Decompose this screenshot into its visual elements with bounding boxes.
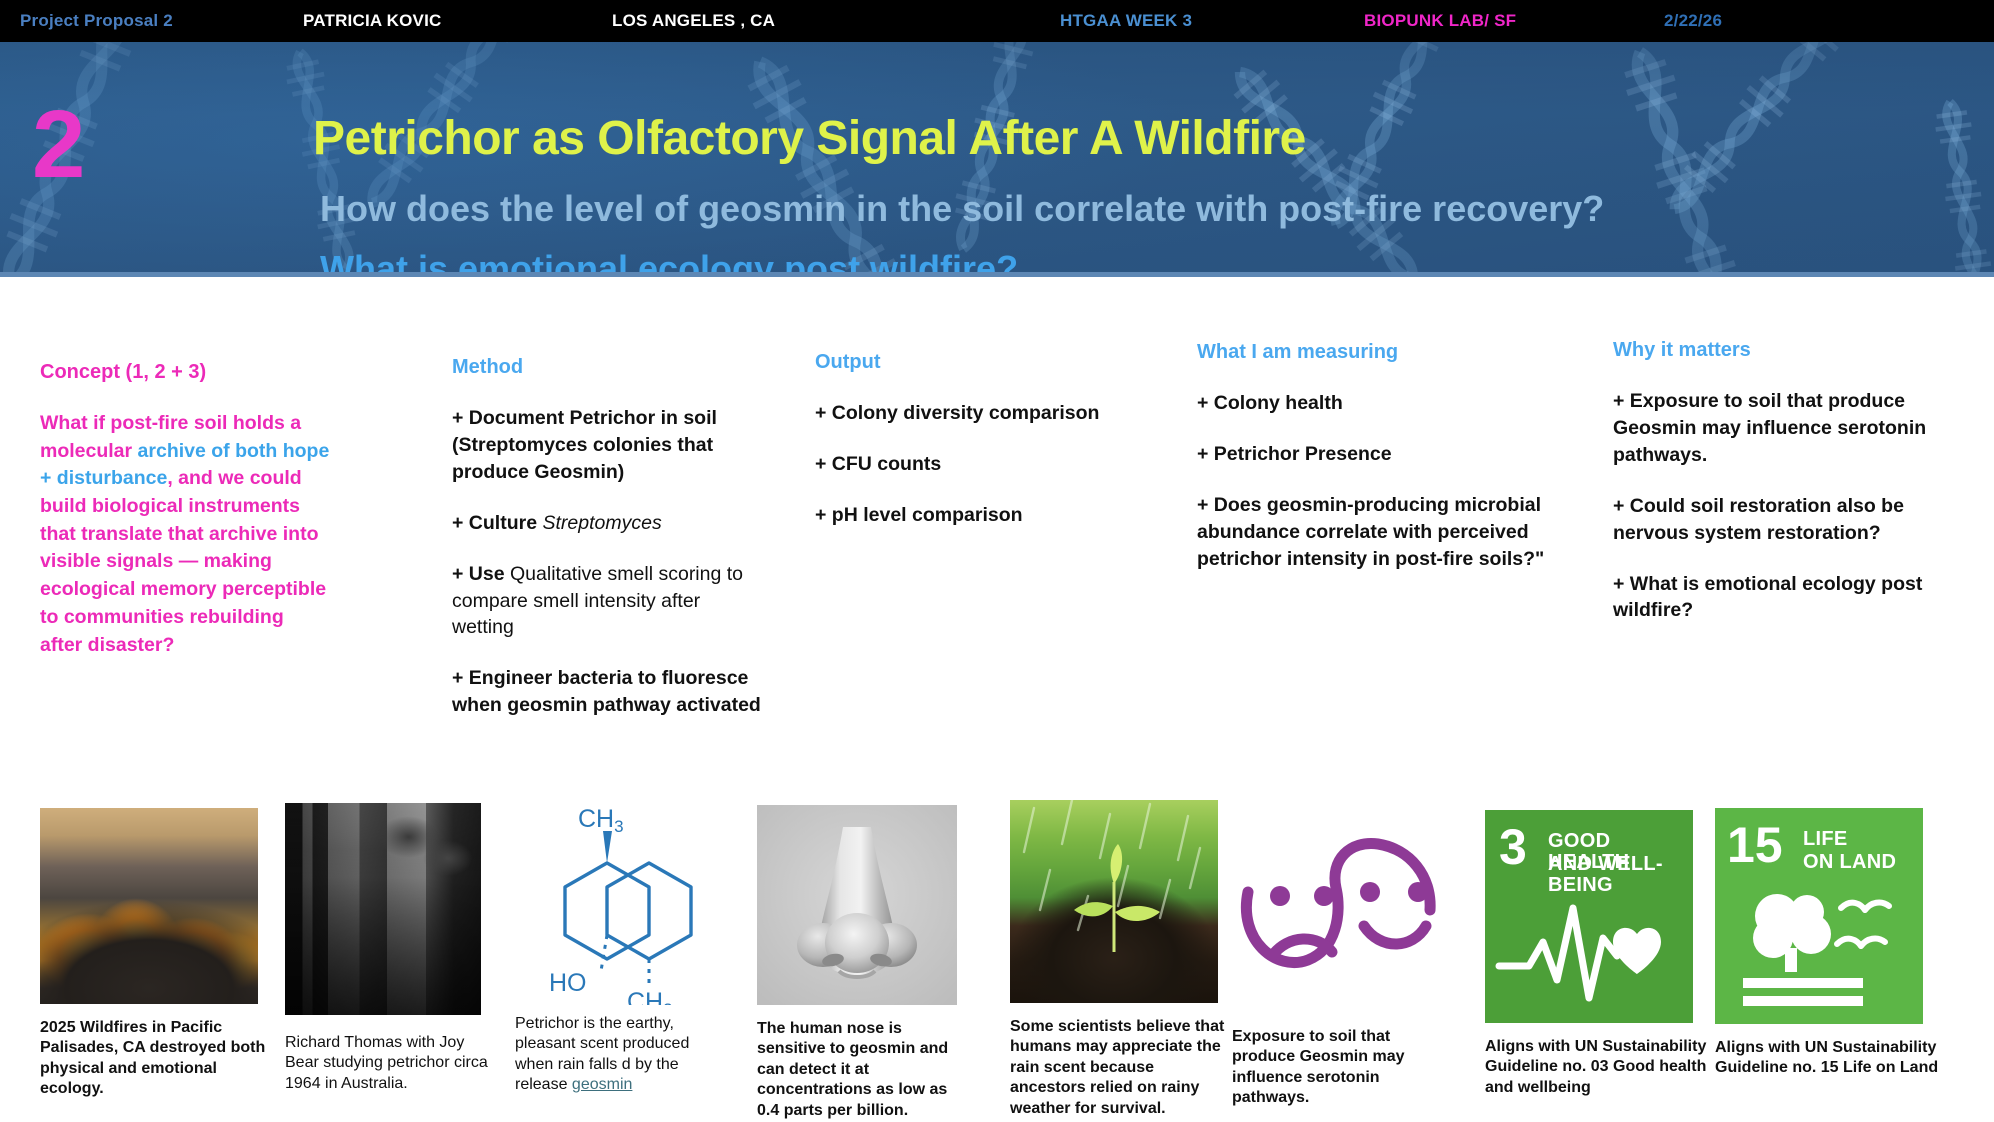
matters-item: + Exposure to soil that produce Geosmin … bbox=[1613, 388, 1963, 469]
method-item: + Use Qualitative smell scoring to compa… bbox=[452, 561, 767, 642]
method-item: + Document Petrichor in soil (Streptomyc… bbox=[452, 405, 767, 486]
meta-location: LOS ANGELES , CA bbox=[612, 11, 775, 31]
gallery-card-sprout-rain: Some scientists believe that humans may … bbox=[1010, 800, 1220, 1119]
label-ho: HO bbox=[549, 969, 587, 997]
heartbeat-heart-icon bbox=[1485, 898, 1693, 1018]
gallery-caption: The human nose is sensitive to geosmin a… bbox=[757, 1019, 962, 1121]
dashed-bond-ho bbox=[601, 935, 607, 971]
column-why-it-matters: Why it matters + Exposure to soil that p… bbox=[1613, 338, 1963, 624]
measuring-item: + Does geosmin-producing microbial abund… bbox=[1197, 492, 1567, 573]
method-item: + Culture Streptomyces bbox=[452, 510, 767, 537]
top-metadata-bar: Project Proposal 2 PATRICIA KOVIC LOS AN… bbox=[0, 0, 1994, 42]
column-method-heading: Method bbox=[452, 355, 767, 379]
matters-item: + What is emotional ecology post wildfir… bbox=[1613, 571, 1963, 625]
un-sdg-15-card: 15 LIFE ON LAND bbox=[1715, 808, 1923, 1024]
meta-author-name: PATRICIA KOVIC bbox=[303, 11, 442, 31]
method-item-text: + Culture bbox=[452, 512, 542, 534]
gallery-card-historic-lab: Richard Thomas with Joy Bear studying pe… bbox=[285, 803, 485, 1094]
column-measuring-body: + Colony health + Petrichor Presence + D… bbox=[1197, 390, 1567, 573]
research-question-1: How does the level of geosmin in the soi… bbox=[320, 189, 1604, 229]
gallery-card-sdg-15: 15 LIFE ON LAND bbox=[1715, 808, 1930, 1079]
column-output-heading: Output bbox=[815, 350, 1115, 374]
gallery-caption: Exposure to soil that produce Geosmin ma… bbox=[1232, 1027, 1432, 1109]
geosmin-molecule-diagram: CH3 HO CH3 bbox=[515, 805, 715, 1005]
sdg-title-line2: ON LAND bbox=[1803, 852, 1896, 873]
wildfire-photo bbox=[40, 808, 258, 1004]
un-sdg-3-card: 3 GOOD HEALTH AND WELL-BEING bbox=[1485, 810, 1693, 1023]
nose-illustration bbox=[757, 805, 957, 1005]
output-item: + CFU counts bbox=[815, 451, 1115, 478]
column-concept-heading: Concept (1, 2 + 3) bbox=[40, 360, 330, 384]
column-output-body: + Colony diversity comparison + CFU coun… bbox=[815, 400, 1115, 529]
gallery-card-wildfire: 2025 Wildfires in Pacific Palisades, CA … bbox=[40, 808, 260, 1100]
page-title: Petrichor as Olfactory Signal After A Wi… bbox=[313, 114, 1306, 164]
measuring-item: + Petrichor Presence bbox=[1197, 441, 1567, 468]
column-measuring: What I am measuring + Colony health + Pe… bbox=[1197, 340, 1567, 573]
column-method-body: + Document Petrichor in soil (Streptomyc… bbox=[452, 405, 767, 719]
method-item-text: + Document Petrichor in soil (Streptomyc… bbox=[452, 407, 717, 483]
meta-project-title: Project Proposal 2 bbox=[20, 11, 173, 31]
historical-lab-photo bbox=[285, 803, 481, 1015]
label-ch3-top: CH3 bbox=[578, 805, 624, 836]
method-item-text: + Engineer bacteria to fluoresce when ge… bbox=[452, 667, 761, 716]
sprout-rain-illustration bbox=[1010, 800, 1218, 1003]
output-item: + pH level comparison bbox=[815, 502, 1115, 529]
gallery-caption: Aligns with UN Sustainability Guideline … bbox=[1485, 1037, 1715, 1098]
tree-birds-icon bbox=[1715, 886, 1923, 1016]
meta-course-week: HTGAA WEEK 3 bbox=[1060, 11, 1192, 31]
slide-canvas: Project Proposal 2 PATRICIA KOVIC LOS AN… bbox=[0, 0, 1994, 1122]
column-concept-body: What if post-fire soil holds a molecular… bbox=[40, 410, 330, 659]
gallery-caption: Petrichor is the earthy, pleasant scent … bbox=[515, 1014, 730, 1096]
slide-number: 2 bbox=[32, 97, 85, 193]
column-measuring-heading: What I am measuring bbox=[1197, 340, 1567, 364]
sdg-number: 15 bbox=[1727, 823, 1783, 868]
method-item-italic: Streptomyces bbox=[542, 512, 661, 534]
human-nose-photo bbox=[757, 805, 957, 1005]
measuring-item: + Colony health bbox=[1197, 390, 1567, 417]
sdg-title-line2: AND WELL-BEING bbox=[1548, 854, 1693, 896]
sprout-in-rain-photo bbox=[1010, 800, 1218, 1003]
concept-text-part2: , and we could build biological instrume… bbox=[40, 467, 326, 655]
gallery-caption: 2025 Wildfires in Pacific Palisades, CA … bbox=[40, 1018, 270, 1100]
gallery-card-geosmin-molecule: CH3 HO CH3 Petrichor is the earthy, plea… bbox=[515, 805, 735, 1096]
column-concept: Concept (1, 2 + 3) What if post-fire soi… bbox=[40, 360, 330, 659]
column-output: Output + Colony diversity comparison + C… bbox=[815, 350, 1115, 529]
output-item: + Colony diversity comparison bbox=[815, 400, 1115, 427]
sdg-number: 3 bbox=[1499, 825, 1527, 870]
column-matters-body: + Exposure to soil that produce Geosmin … bbox=[1613, 388, 1963, 624]
geosmin-link[interactable]: geosmin bbox=[572, 1076, 632, 1093]
gallery-card-emotion-faces: Exposure to soil that produce Geosmin ma… bbox=[1232, 830, 1447, 1109]
column-method: Method + Document Petrichor in soil (Str… bbox=[452, 355, 767, 719]
method-item-text: + Use bbox=[452, 563, 510, 585]
gallery-caption: Aligns with UN Sustainability Guideline … bbox=[1715, 1038, 1940, 1079]
meta-date: 2/22/26 bbox=[1664, 11, 1722, 31]
gallery-card-human-nose: The human nose is sensitive to geosmin a… bbox=[757, 805, 957, 1121]
wedge-bond bbox=[603, 831, 612, 863]
gallery-caption: Richard Thomas with Joy Bear studying pe… bbox=[285, 1033, 490, 1094]
gallery-card-sdg-3: 3 GOOD HEALTH AND WELL-BEING Aligns with… bbox=[1485, 810, 1705, 1098]
label-ch3-bottom: CH3 bbox=[627, 988, 673, 1005]
banner-bottom-rule bbox=[0, 272, 1994, 277]
meta-lab-name: BIOPUNK LAB/ SF bbox=[1364, 11, 1516, 31]
column-matters-heading: Why it matters bbox=[1613, 338, 1963, 362]
sad-happy-faces-icon bbox=[1232, 830, 1447, 1000]
title-banner: 2 Petrichor as Olfactory Signal After A … bbox=[0, 42, 1994, 277]
method-item: + Engineer bacteria to fluoresce when ge… bbox=[452, 665, 767, 719]
gallery-caption: Some scientists believe that humans may … bbox=[1010, 1017, 1225, 1119]
matters-item: + Could soil restoration also be nervous… bbox=[1613, 493, 1963, 547]
sdg-title-line1: LIFE bbox=[1803, 829, 1848, 850]
